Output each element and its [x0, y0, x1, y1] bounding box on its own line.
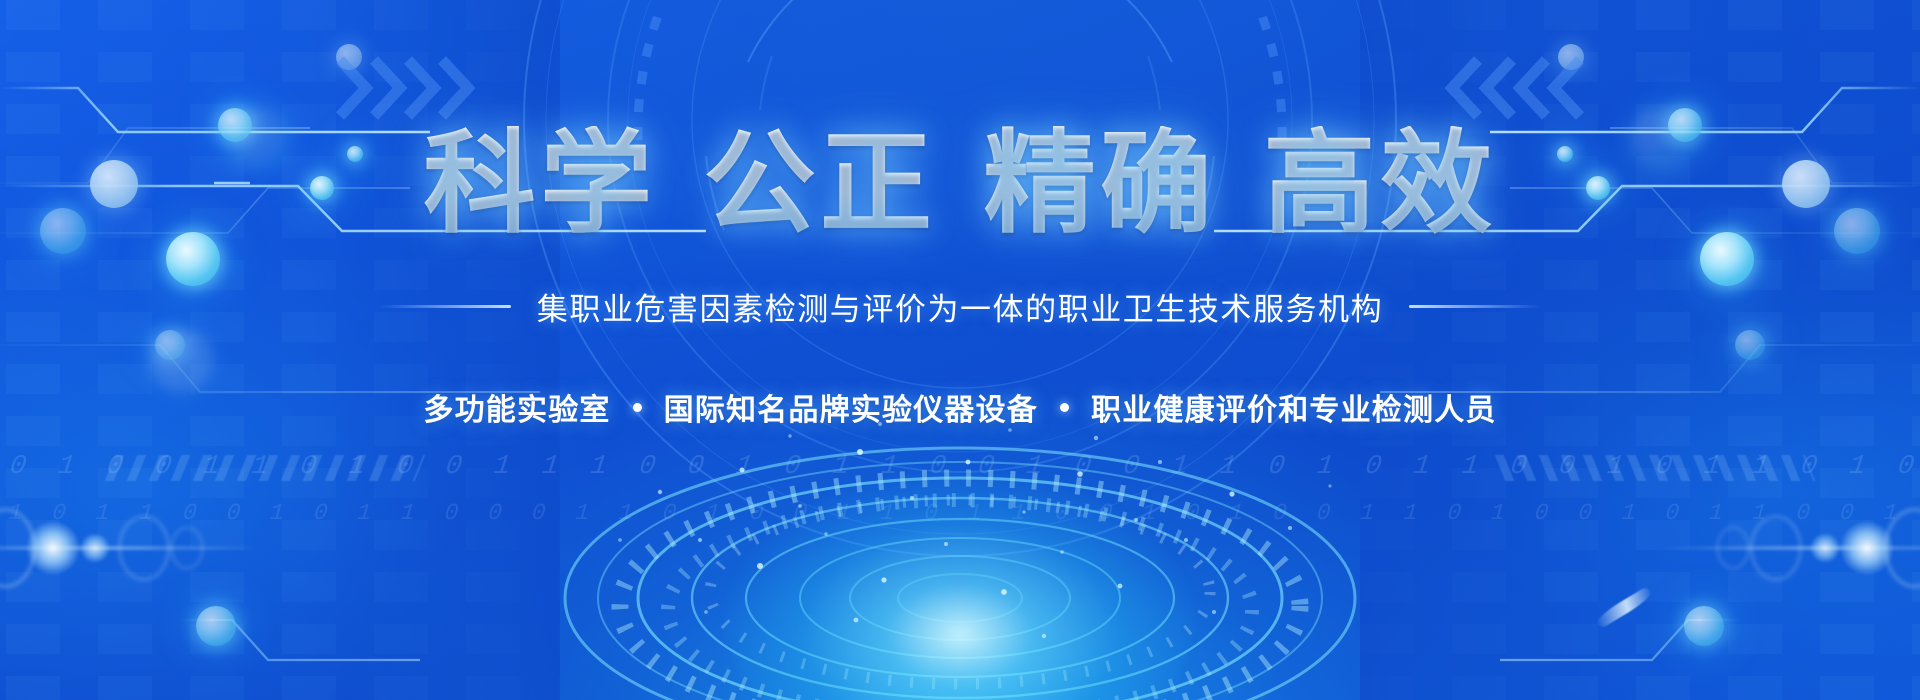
- subtitle-rule-right: [1409, 305, 1541, 308]
- subtitle-rule-left: [379, 305, 511, 308]
- subtitle-row: 集职业危害因素检测与评价为一体的职业卫生技术服务机构: [379, 284, 1541, 329]
- tagline: 多功能实验室 国际知名品牌实验仪器设备 职业健康评价和专业检测人员: [423, 385, 1496, 429]
- tagline-item-2: 国际知名品牌实验仪器设备: [664, 385, 1038, 429]
- headline-word-2: 公正: [704, 121, 937, 246]
- banner-content: 科学公正精确高效 集职业危害因素检测与评价为一体的职业卫生技术服务机构 多功能实…: [0, 0, 1920, 700]
- tagline-separator-dot: [633, 403, 642, 412]
- headline-word-3: 精确: [984, 121, 1217, 246]
- headline-word-1: 科学: [424, 121, 657, 246]
- headline: 科学公正精确高效: [424, 126, 1497, 242]
- hero-banner: 0 1 0 0 1 1 0 1 0 0 1 1 1 0 0 1 0 1 1 0 …: [0, 0, 1920, 700]
- tagline-separator-dot: [1060, 403, 1069, 412]
- tagline-item-3: 职业健康评价和专业检测人员: [1091, 385, 1497, 429]
- subtitle: 集职业危害因素检测与评价为一体的职业卫生技术服务机构: [537, 284, 1383, 329]
- headline-word-4: 高效: [1264, 121, 1497, 246]
- tagline-item-1: 多功能实验室: [423, 385, 610, 429]
